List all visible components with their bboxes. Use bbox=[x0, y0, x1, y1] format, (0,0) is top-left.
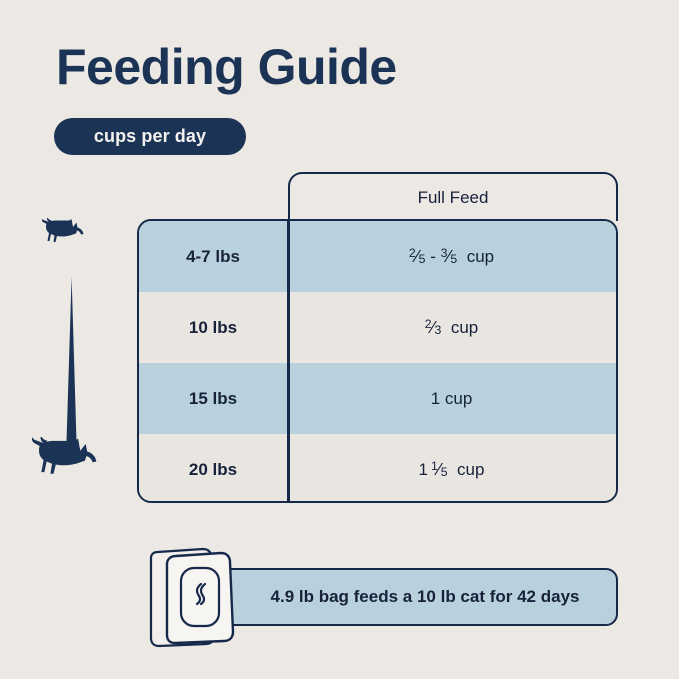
size-gradient-wedge-icon bbox=[61, 277, 83, 442]
denominator: 5 bbox=[441, 465, 448, 479]
cell-weight: 10 lbs bbox=[139, 292, 287, 363]
cell-amount: 1 cup bbox=[287, 363, 616, 434]
cat-size-scale bbox=[30, 215, 135, 505]
page-title: Feeding Guide bbox=[56, 41, 397, 94]
amount-fraction: 11⁄5 cup bbox=[419, 459, 485, 480]
numerator: 2 bbox=[409, 246, 416, 260]
full-feed-header-label: Full Feed bbox=[418, 188, 489, 208]
cell-weight: 4-7 lbs bbox=[139, 221, 287, 292]
feeding-guide-page: Feeding Guide cups per day Full Feed bbox=[0, 0, 679, 679]
whole-number: 1 bbox=[419, 460, 428, 479]
table-row: 15 lbs 1 cup bbox=[139, 363, 616, 434]
numerator: 1 bbox=[431, 459, 438, 473]
amount-unit: cup bbox=[451, 318, 478, 337]
amount-fraction: 2⁄3 cup bbox=[425, 317, 478, 338]
food-bag-icon bbox=[145, 540, 255, 650]
cups-per-day-badge: cups per day bbox=[54, 118, 246, 155]
amount-unit: cup bbox=[457, 460, 484, 479]
feeding-table: 4-7 lbs 2⁄5 - 3⁄5 cup 10 lbs 2⁄3 cup 15 … bbox=[137, 219, 618, 503]
numerator: 2 bbox=[425, 317, 432, 331]
amount-plain: 1 cup bbox=[431, 389, 473, 409]
table-row: 10 lbs 2⁄3 cup bbox=[139, 292, 616, 363]
cups-per-day-label: cups per day bbox=[94, 126, 206, 147]
cat-walking-small-icon bbox=[42, 218, 84, 257]
table-row: 4-7 lbs 2⁄5 - 3⁄5 cup bbox=[139, 221, 616, 292]
amount-unit: cup bbox=[467, 247, 494, 266]
full-feed-header: Full Feed bbox=[288, 172, 618, 221]
amount-fraction: 2⁄5 - 3⁄5 cup bbox=[409, 246, 494, 267]
cell-amount: 2⁄5 - 3⁄5 cup bbox=[287, 221, 616, 292]
cell-amount: 11⁄5 cup bbox=[287, 434, 616, 503]
column-divider bbox=[287, 221, 290, 501]
range-dash: - bbox=[430, 247, 436, 266]
denominator: 3 bbox=[435, 323, 442, 337]
bag-duration-text: 4.9 lb bag feeds a 10 lb cat for 42 days bbox=[257, 587, 580, 607]
bag-duration-callout: 4.9 lb bag feeds a 10 lb cat for 42 days bbox=[218, 568, 618, 626]
table-row: 20 lbs 11⁄5 cup bbox=[139, 434, 616, 503]
cell-weight: 15 lbs bbox=[139, 363, 287, 434]
cat-walking-large-icon bbox=[32, 437, 98, 494]
cell-weight: 20 lbs bbox=[139, 434, 287, 503]
denominator: 5 bbox=[419, 252, 426, 266]
cell-amount: 2⁄3 cup bbox=[287, 292, 616, 363]
denominator-2: 5 bbox=[450, 252, 457, 266]
